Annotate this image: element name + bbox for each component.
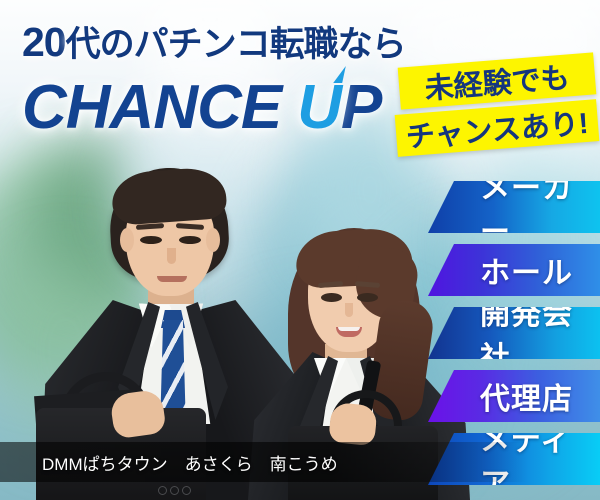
caption-text: DMMぱちタウン あさくら 南こうめ [42,450,338,475]
male-eye-right [179,236,201,244]
female-eye-left [321,293,342,302]
female-eye-right [357,293,378,302]
briefcase-studs [158,482,204,491]
category-button-agency[interactable]: 代理店 [428,370,600,422]
logo-letter-p: P [341,73,381,142]
male-eye-left [140,236,162,244]
category-label: 代理店 [480,374,573,418]
logo-letter-u-accent: U [297,72,341,143]
category-button-maker[interactable]: メーカー [428,181,600,233]
category-label: ホール [480,248,573,292]
male-mouth [157,276,187,282]
logo-word-chance: CHANCE [22,73,281,142]
female-hand [328,402,378,447]
logo-chance-up: CHANCEUP [22,72,381,143]
female-teeth [338,327,360,331]
headline-text: 20代のパチンコ転職なら [22,16,406,67]
advertisement-banner[interactable]: 20代のパチンコ転職なら CHANCEUP 未経験でも チャンスあり! メーカー… [0,0,600,500]
male-ear-left [120,228,134,252]
headline-rest: 代のパチンコ転職なら [66,25,406,64]
headline-number: 20 [22,19,66,65]
category-button-hall[interactable]: ホール [428,244,600,296]
category-button-developer[interactable]: 開発会社 [428,307,600,359]
male-ear-right [206,228,220,252]
female-nose [345,303,353,317]
caption-bar: DMMぱちタウン あさくら 南こうめ [0,442,600,482]
male-nose [167,248,176,264]
